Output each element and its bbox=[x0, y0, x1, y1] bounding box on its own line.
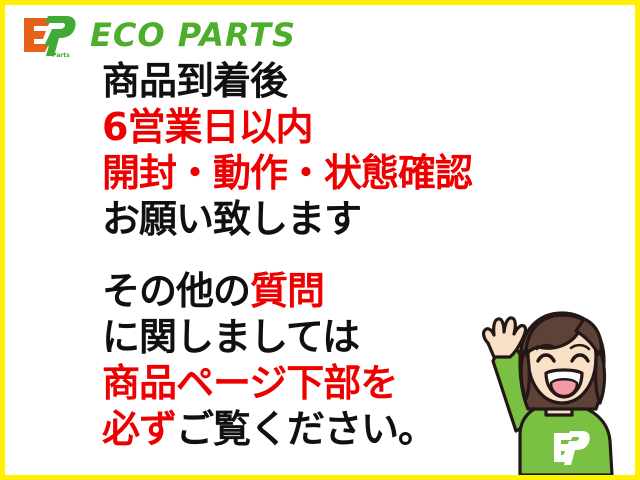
message-line-6-segment-1: に関しましては bbox=[102, 315, 359, 359]
message-line-8-segment-1: 必ず bbox=[102, 407, 176, 451]
frame-border-right bbox=[635, 0, 640, 480]
svg-text:Parts: Parts bbox=[52, 52, 70, 58]
message-line-1: 商品到着後 bbox=[102, 58, 622, 104]
message-line-5-segment-2: 質問 bbox=[250, 269, 324, 313]
message-line-8-segment-2: ご覧ください。 bbox=[176, 407, 435, 451]
brand-wordmark: ECO PARTS bbox=[90, 19, 296, 51]
frame-border-top bbox=[0, 0, 640, 5]
brand-lockup: Eco Parts ECO PARTS bbox=[18, 12, 296, 58]
message-line-7-segment-1: 商品ページ下部を bbox=[102, 361, 397, 405]
message-line-2: 6営業日以内 bbox=[102, 104, 622, 150]
message-line-3: 開封・動作・状態確認 bbox=[102, 150, 622, 196]
message-line-4: お願い致します bbox=[102, 196, 622, 242]
svg-text:Eco: Eco bbox=[26, 46, 38, 53]
promo-banner: Eco Parts ECO PARTS 商品到着後 6営業日以内 開封・動作・状… bbox=[0, 0, 640, 480]
frame-border-left bbox=[0, 0, 5, 480]
frame-border-bottom bbox=[0, 475, 640, 480]
message-line-5-segment-1: その他の bbox=[102, 269, 250, 313]
paragraph-spacer bbox=[102, 242, 622, 268]
waving-woman-illustration bbox=[458, 299, 634, 475]
eco-parts-ep-monogram-icon: Eco Parts bbox=[18, 12, 80, 58]
